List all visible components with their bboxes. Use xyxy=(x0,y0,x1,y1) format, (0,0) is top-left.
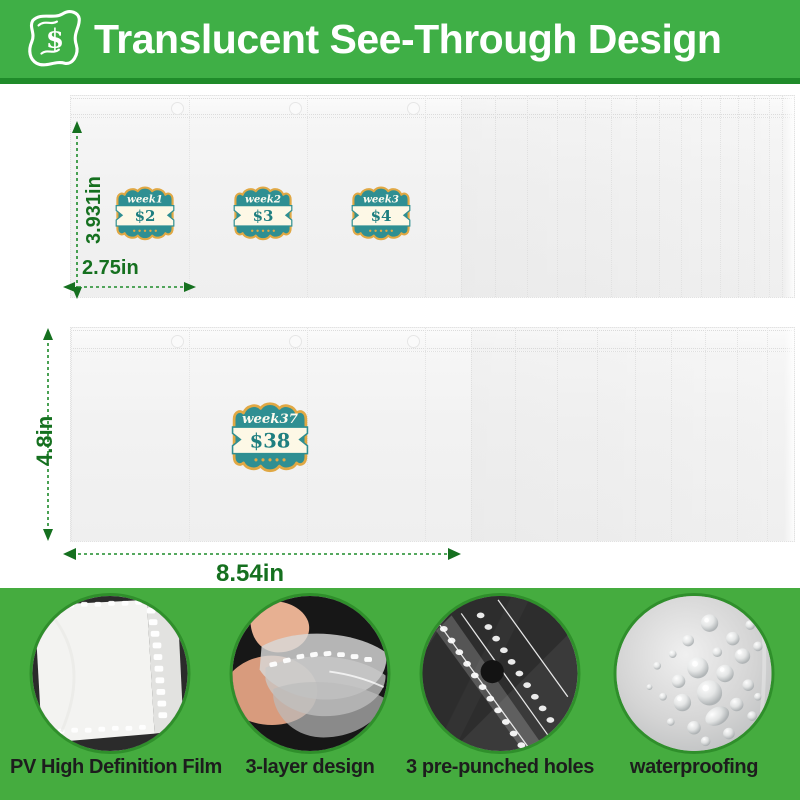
punch-hole xyxy=(289,335,302,348)
weekly-savings-pouch-top: week1 $2 week2 $3 xyxy=(70,95,795,298)
binder-holes-closeup-photo xyxy=(420,593,581,754)
weekly-savings-pouch-bottom: week37 $38 xyxy=(70,327,795,542)
week-label-badge: week37 $38 xyxy=(222,399,318,477)
badge-shape: week37 $38 xyxy=(222,399,318,477)
badge-shape: week3 $4 xyxy=(345,184,417,244)
punch-hole xyxy=(171,335,184,348)
panel-top-edge xyxy=(0,585,800,588)
punch-hole xyxy=(289,102,302,115)
badge-week-text: week1 xyxy=(127,194,163,206)
feature-item-three-layer: 3-layer design xyxy=(210,593,410,800)
pocket-divider xyxy=(189,328,190,541)
product-diagram-area: week1 $2 week2 $3 xyxy=(0,84,800,585)
stack-shading xyxy=(461,96,795,297)
svg-text:$: $ xyxy=(46,24,64,55)
badge-amount-text: $3 xyxy=(253,207,274,225)
badge-week-text: week37 xyxy=(242,412,299,427)
feature-item-punched-holes: 3 pre-punched holes xyxy=(400,593,600,800)
pocket-divider xyxy=(71,328,72,541)
pocket-divider xyxy=(307,96,308,297)
week-label-badge: week2 $3 xyxy=(227,184,299,244)
badge-shape: week1 $2 xyxy=(109,184,181,244)
feature-caption: 3 pre-punched holes xyxy=(400,756,600,779)
feature-item-pv-film: PV High Definition Film xyxy=(10,593,210,800)
punch-hole xyxy=(407,102,420,115)
feature-item-waterproof: waterproofing xyxy=(594,593,794,800)
pocket-divider xyxy=(189,96,190,297)
punch-hole xyxy=(407,335,420,348)
stack-shading xyxy=(471,328,795,541)
pouch-body-bottom xyxy=(70,327,795,542)
pouch-right-edge xyxy=(784,96,794,297)
stack-of-clear-sleeves-photo xyxy=(30,593,191,754)
feature-caption: waterproofing xyxy=(594,756,794,779)
feature-panel: PV High Definition Film xyxy=(0,585,800,800)
badge-week-text: week2 xyxy=(245,194,281,206)
badge-week-text: week3 xyxy=(363,194,399,206)
badge-amount-text: $4 xyxy=(371,207,392,225)
dimension-line-pocket-width xyxy=(62,277,197,297)
dimension-label-width-bottom: 8.54in xyxy=(216,562,284,586)
pocket-divider xyxy=(425,96,426,297)
week-label-badge: week3 $4 xyxy=(345,184,417,244)
header-banner: $ Translucent See-Through Design xyxy=(0,0,800,78)
dimension-label-pocket-width: 2.75in xyxy=(82,258,139,278)
money-bill-icon: $ xyxy=(24,8,86,70)
pocket-divider xyxy=(425,328,426,541)
punch-hole xyxy=(171,102,184,115)
page-title: Translucent See-Through Design xyxy=(94,19,721,60)
feature-caption: PV High Definition Film xyxy=(10,756,210,779)
infographic-root: $ Translucent See-Through Design xyxy=(0,0,800,800)
hand-holding-open-pouch-photo xyxy=(230,593,391,754)
dimension-label-height-bottom: 4.8in xyxy=(34,416,56,466)
dimension-label-height-top: 3.931in xyxy=(84,176,104,244)
badge-amount-text: $38 xyxy=(250,429,291,452)
badge-amount-text: $2 xyxy=(135,207,156,225)
water-droplets-on-film-photo xyxy=(614,593,775,754)
feature-caption: 3-layer design xyxy=(210,756,410,779)
pouch-right-edge xyxy=(784,328,794,541)
week-label-badge: week1 $2 xyxy=(109,184,181,244)
badge-shape: week2 $3 xyxy=(227,184,299,244)
